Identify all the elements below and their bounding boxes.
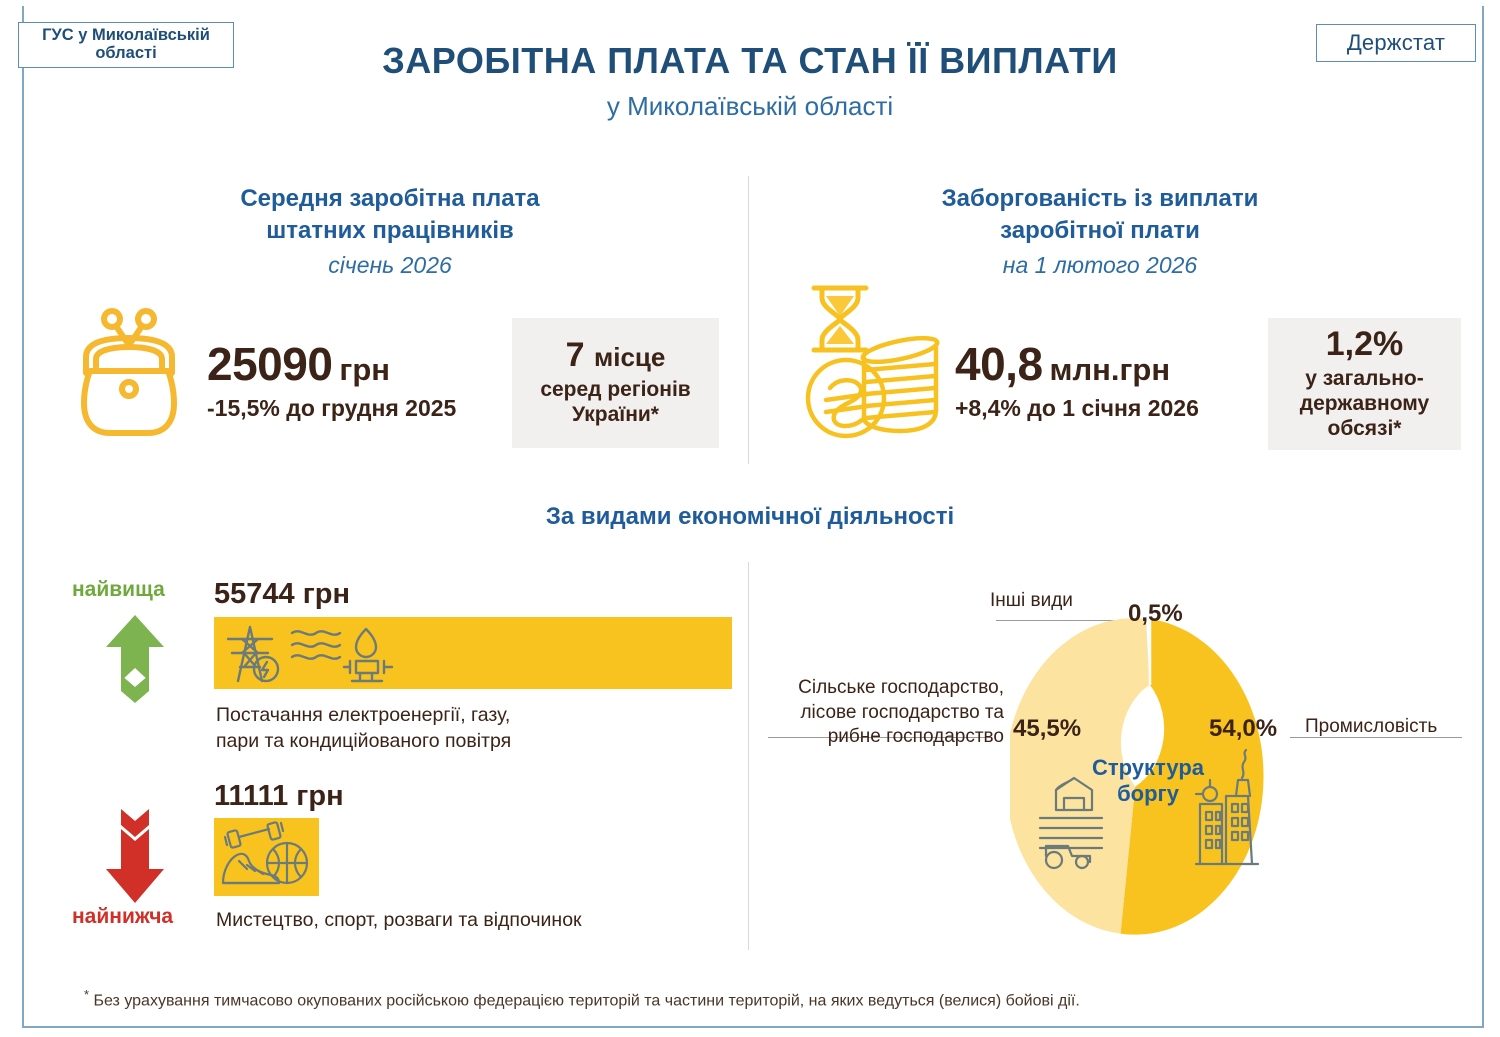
average-salary-number: 25090: [207, 338, 332, 390]
regional-office-logo: ГУС у Миколаївській області: [18, 22, 234, 68]
lowest-salary-value: 11111 грн: [214, 780, 344, 813]
derzhstat-logo: Держстат: [1316, 24, 1476, 62]
hourglass-coins-icon: [788, 278, 948, 458]
donut-percent-other: 0,5%: [1128, 600, 1183, 628]
rank-sub-line-1: серед регіонів: [540, 378, 690, 401]
debt-unit: млн.грн: [1050, 352, 1171, 387]
salary-period: січень 2026: [80, 252, 700, 279]
vertical-divider-bottom: [748, 562, 749, 950]
vertical-divider-top: [748, 176, 749, 464]
rank-number: 7: [566, 336, 585, 374]
debt-share-callout: 1,2% у загально- державному обсязі*: [1268, 318, 1461, 450]
wallet-icon: [70, 305, 190, 445]
debt-share-sub-line-2: державному: [1300, 392, 1429, 415]
rank-unit: місце: [594, 342, 665, 372]
logo-line-1: ГУС у Миколаївській: [42, 26, 210, 44]
debt-share-sub-line-1: у загально-: [1305, 367, 1424, 390]
rank-headline: 7 місце: [566, 338, 666, 374]
logo-line-2: області: [95, 44, 156, 62]
donut-center-line-1: Структура: [1089, 755, 1207, 781]
logo-text: ГУС у Миколаївській області: [19, 27, 233, 63]
donut-label-agriculture-line-3: рибне господарство: [774, 725, 1004, 750]
highest-salary-value: 55744 грн: [214, 578, 350, 611]
debt-value-block: 40,8млн.грн +8,4% до 1 січня 2026: [955, 337, 1199, 422]
debt-share-sub-line-3: обсязі*: [1328, 417, 1402, 440]
donut-center-line-2: боргу: [1089, 781, 1207, 807]
section-title: За видами економічної діяльності: [0, 503, 1500, 531]
debt-share-subtext: у загально- державному обсязі*: [1300, 366, 1429, 442]
rank-sub-line-2: України*: [572, 403, 659, 426]
page-subtitle: у Миколаївській області: [0, 91, 1500, 122]
salary-panel-heading: Середня заробітна плата штатних працівни…: [80, 183, 700, 279]
salary-heading-line-2: штатних працівників: [80, 215, 700, 247]
rank-subtext: серед регіонів України*: [540, 377, 690, 427]
salary-heading-line-1: Середня заробітна плата: [80, 183, 700, 215]
highest-caption-line-2: пари та кондиційованого повітря: [216, 729, 511, 755]
debt-panel-heading: Заборгованість із виплати заробітної пла…: [790, 183, 1410, 279]
average-salary-unit: грн: [339, 352, 390, 387]
debt-heading-line-1: Заборгованість із виплати: [790, 183, 1410, 215]
donut-label-agriculture: Сільське господарство, лісове господарст…: [774, 676, 1004, 750]
donut-percent-agriculture: 45,5%: [1013, 715, 1081, 743]
donut-label-other: Інші види: [990, 589, 1073, 614]
footnote: * Без урахування тимчасово окупованих ро…: [84, 987, 1080, 1010]
debt-number: 40,8: [955, 338, 1043, 390]
average-salary-value-block: 25090грн -15,5% до грудня 2025: [207, 337, 456, 422]
debt-period: на 1 лютого 2026: [790, 252, 1410, 279]
highest-salary-caption: Постачання електроенергії, газу, пари та…: [216, 703, 511, 754]
highest-label: найвища: [72, 578, 165, 602]
lowest-salary-bar: [214, 818, 319, 896]
donut-label-agriculture-line-2: лісове господарство та: [774, 701, 1004, 726]
donut-percent-industry: 54,0%: [1209, 715, 1277, 743]
donut-center-label: Структура боргу: [1089, 755, 1207, 808]
debt-share-headline: 1,2%: [1326, 327, 1404, 363]
donut-label-industry: Промисловість: [1305, 715, 1437, 740]
arrow-down-icon: [100, 807, 170, 912]
arrow-up-icon: [100, 613, 170, 708]
lowest-label: найнижча: [72, 905, 173, 929]
brand-label: Держстат: [1347, 30, 1445, 56]
rank-callout: 7 місце серед регіонів України*: [512, 318, 719, 448]
lowest-salary-caption: Мистецтво, спорт, розваги та відпочинок: [216, 908, 582, 934]
donut-label-agriculture-line-1: Сільське господарство,: [774, 676, 1004, 701]
debt-change: +8,4% до 1 січня 2026: [955, 395, 1199, 422]
average-salary-change: -15,5% до грудня 2025: [207, 395, 456, 422]
highest-salary-bar: [214, 617, 732, 689]
highest-caption-line-1: Постачання електроенергії, газу,: [216, 703, 511, 729]
footnote-text: Без урахування тимчасово окупованих росі…: [89, 992, 1080, 1009]
debt-heading-line-2: заробітної плати: [790, 215, 1410, 247]
